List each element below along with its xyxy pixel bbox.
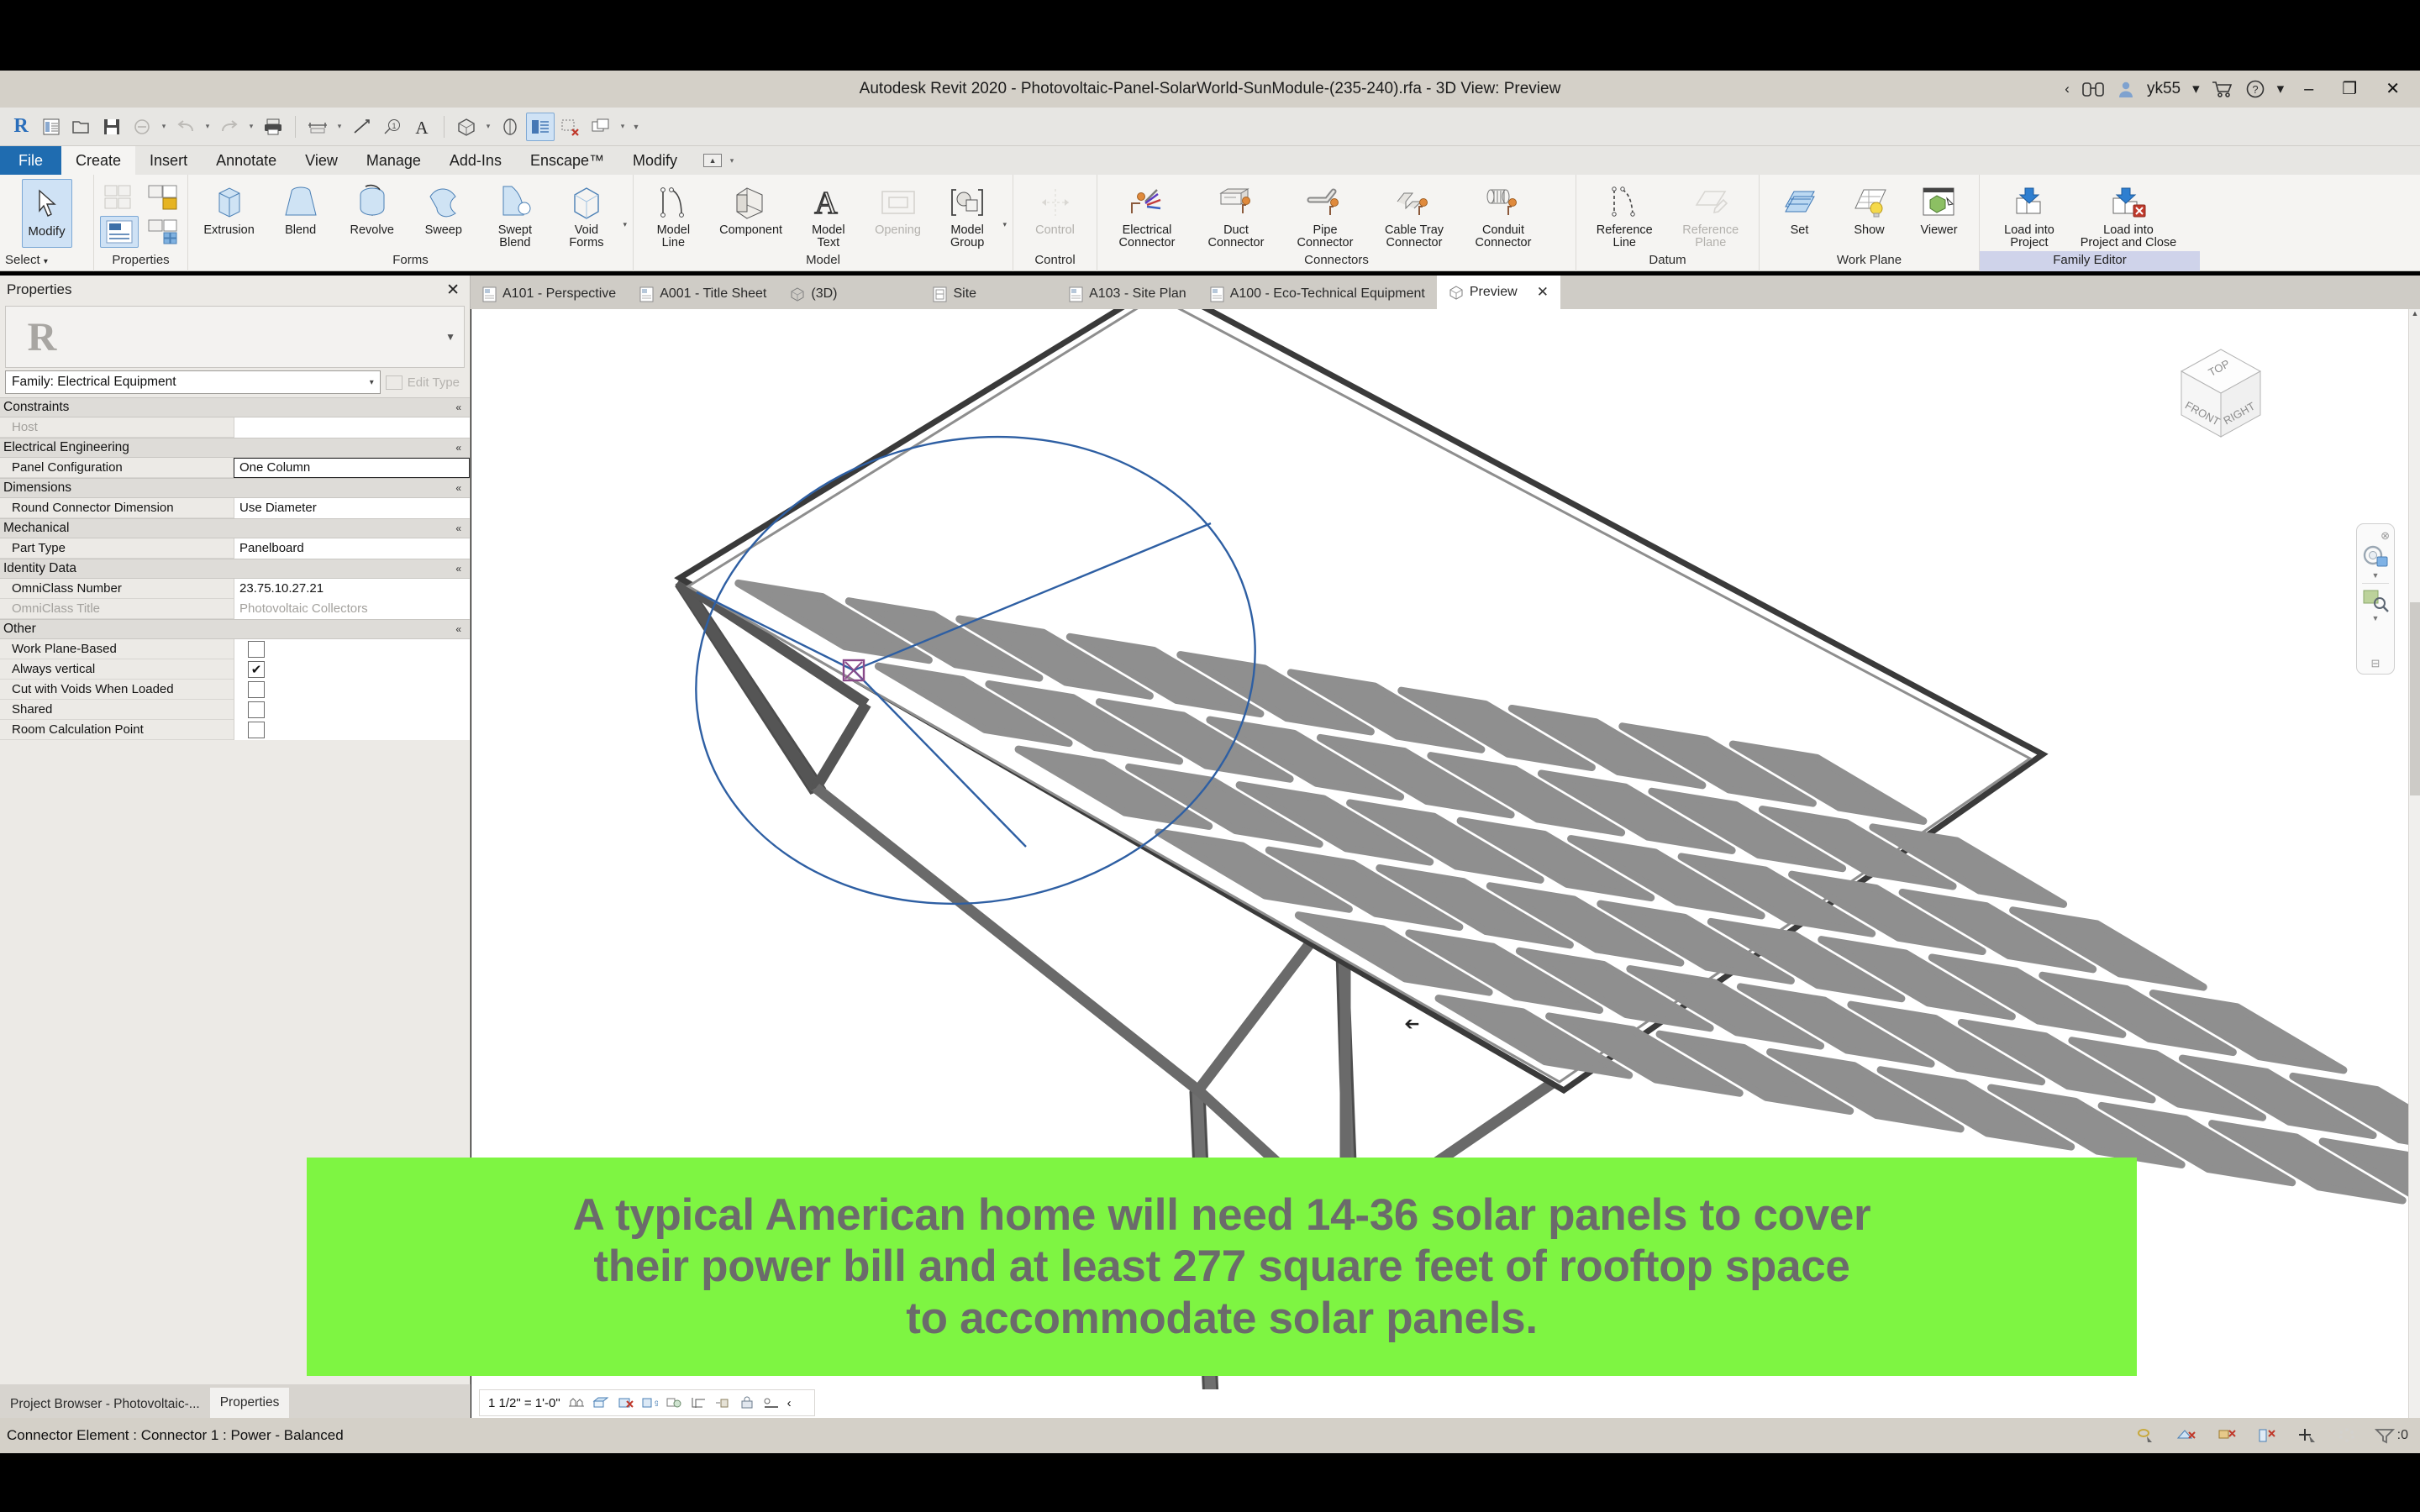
load-into-project-and-close-button[interactable]: Load into Project and Close: [2075, 179, 2182, 249]
show-work-plane-label: Show: [1854, 224, 1884, 237]
select-panel-caret-icon[interactable]: ▾: [44, 257, 48, 266]
duct-connector-button[interactable]: Duct Connector: [1192, 179, 1280, 249]
switch-windows-caret-icon[interactable]: ▾: [617, 122, 629, 131]
property-name: OmniClass Title: [0, 601, 234, 616]
close-button[interactable]: ✕: [2377, 71, 2408, 108]
sheet-icon: [1069, 286, 1083, 302]
property-row-always-vertical[interactable]: Always vertical ✔: [0, 659, 470, 680]
ribbon-minimize-icon[interactable]: ▲: [703, 154, 722, 167]
view-tab-label: A101 - Perspective: [502, 286, 616, 302]
properties-col-1: [100, 179, 139, 248]
view-tab-a001-title-sheet[interactable]: A001 - Title Sheet: [628, 279, 778, 309]
3d-view-icon: [790, 286, 805, 302]
load-into-project-and-close-label: Load into Project and Close: [2081, 224, 2176, 249]
property-value[interactable]: 23.75.10.27.21: [234, 579, 470, 599]
work-plane-viewer-button[interactable]: Viewer: [1905, 179, 1973, 237]
reference-line-button[interactable]: Reference Line: [1582, 179, 1667, 249]
property-name: Room Calculation Point: [0, 722, 234, 737]
property-row-round-connector-dimension[interactable]: Round Connector Dimension Use Diameter: [0, 498, 470, 518]
reference-plane-button: Reference Plane: [1669, 179, 1754, 249]
qat-separator-2: [444, 116, 445, 138]
mouse-cursor-icon: ➔: [1404, 1013, 1419, 1035]
aligned-dimension-icon[interactable]: [347, 113, 376, 141]
pipe-connector-label: Pipe Connector: [1297, 224, 1354, 249]
pipe-connector-icon: [1305, 181, 1345, 224]
property-row-work-plane-based[interactable]: Work Plane-Based: [0, 639, 470, 659]
svg-text:9: 9: [655, 1399, 658, 1408]
progress-icon: [2338, 1427, 2356, 1444]
svg-text:A: A: [814, 186, 838, 221]
qat-separator-1: [295, 116, 296, 138]
duct-connector-icon: [1216, 181, 1256, 224]
always-vertical-checkbox[interactable]: ✔: [248, 661, 265, 678]
dock-tab-project-browser[interactable]: Project Browser - Photovoltaic-...: [0, 1391, 210, 1418]
ribbon-tab-insert[interactable]: Insert: [135, 146, 202, 175]
restore-button[interactable]: ❐: [2333, 71, 2365, 108]
conduit-connector-button[interactable]: Conduit Connector: [1460, 179, 1547, 249]
work-plane-viewer-label: Viewer: [1920, 224, 1957, 237]
property-row-omniclass-title: OmniClass Title Photovoltaic Collectors: [0, 599, 470, 619]
view-tab-a103-site-plan[interactable]: A103 - Site Plan: [988, 279, 1198, 309]
save-icon[interactable]: [97, 113, 126, 141]
properties-close-icon[interactable]: ✕: [446, 281, 460, 300]
blend-button[interactable]: Blend: [266, 179, 335, 237]
sun-path-icon[interactable]: [617, 1396, 634, 1410]
property-value[interactable]: [234, 417, 470, 438]
view-control-more-icon[interactable]: ‹: [787, 1396, 792, 1410]
navigation-bar-divider: [2362, 583, 2389, 584]
properties-thumbnail: R ▼: [5, 306, 465, 368]
property-row-cut-with-voids-when-loaded[interactable]: Cut with Voids When Loaded: [0, 680, 470, 700]
title-bar: Autodesk Revit 2020 - Photovoltaic-Panel…: [0, 71, 2420, 108]
ribbon-tab-manage[interactable]: Manage: [352, 146, 435, 175]
model-group-icon: [948, 181, 986, 224]
property-name: Shared: [0, 702, 234, 717]
model-line-icon: [656, 181, 690, 224]
show-work-plane-button[interactable]: Show: [1835, 179, 1903, 237]
property-group-label: Identity Data: [3, 561, 76, 576]
ribbon-tab-modify[interactable]: Modify: [618, 146, 692, 175]
swept-blend-icon: [497, 181, 534, 224]
property-group-label: Dimensions: [3, 480, 71, 496]
revit-logo-icon[interactable]: R: [7, 113, 35, 141]
user-menu-caret-icon[interactable]: ▾: [2192, 81, 2200, 97]
swept-blend-label: Swept Blend: [498, 224, 532, 249]
property-value[interactable]: Use Diameter: [234, 498, 470, 518]
property-row-omniclass-number[interactable]: OmniClass Number 23.75.10.27.21: [0, 579, 470, 599]
crop-region-icon[interactable]: [714, 1396, 731, 1410]
shared-checkbox[interactable]: [248, 701, 265, 718]
revit-family-thumbnail-icon: R: [6, 314, 78, 360]
set-work-plane-icon: [1781, 181, 1819, 224]
control-button: Control: [1020, 179, 1091, 237]
property-name: Round Connector Dimension: [0, 501, 234, 515]
property-name: Host: [0, 420, 234, 434]
crop-view-icon[interactable]: [690, 1396, 707, 1410]
edit-type-button: Edit Type: [386, 375, 465, 390]
view-3d-caret-icon[interactable]: ▾: [482, 122, 494, 131]
view-tab-bar: A101 - Perspective A001 - Title Sheet (3…: [471, 276, 2420, 309]
switch-windows-icon[interactable]: [587, 113, 615, 141]
view-tab-label: A103 - Site Plan: [1089, 286, 1186, 302]
extrusion-button[interactable]: Extrusion: [194, 179, 264, 237]
load-into-project-button[interactable]: Load into Project: [1986, 179, 2073, 249]
pipe-connector-button[interactable]: Pipe Connector: [1281, 179, 1369, 249]
load-into-project-and-close-icon: [2108, 181, 2149, 224]
sheet-icon: [639, 286, 654, 302]
measure-caret-icon[interactable]: ▾: [334, 122, 345, 131]
ribbon-tab-add-ins[interactable]: Add-Ins: [435, 146, 516, 175]
model-group-label: Model Group: [950, 224, 984, 249]
property-row-part-type[interactable]: Part Type Panelboard: [0, 538, 470, 559]
property-value[interactable]: One Column: [234, 458, 470, 478]
panel-title-forms: Forms: [188, 251, 633, 271]
room-calculation-point-checkbox[interactable]: [248, 722, 265, 738]
save-as-icon[interactable]: [128, 113, 156, 141]
scrollbar-thumb[interactable]: [2410, 602, 2420, 795]
sweep-label: Sweep: [425, 224, 462, 237]
blend-label: Blend: [285, 224, 316, 237]
component-label: Component: [719, 224, 782, 237]
ribbon-tab-view[interactable]: View: [291, 146, 352, 175]
ribbon-panel-datum: Reference Line Reference Plane Datum: [1576, 175, 1760, 271]
property-name: Cut with Voids When Loaded: [0, 682, 234, 696]
blend-icon: [282, 181, 319, 224]
reference-plane-label: Reference Plane: [1682, 224, 1739, 249]
redo-caret-icon[interactable]: ▾: [245, 122, 257, 131]
work-plane-viewer-icon: [1920, 181, 1959, 224]
control-label: Control: [1035, 224, 1075, 237]
lock-3d-view-icon[interactable]: [739, 1396, 755, 1410]
panel-title-datum: Datum: [1576, 251, 1759, 271]
chevron-up-icon[interactable]: «: [455, 623, 461, 635]
load-into-project-icon: [2010, 181, 2049, 224]
view-tab-label: Site: [953, 286, 976, 302]
property-value-cell: ✔: [234, 659, 470, 680]
property-value-cell: [234, 680, 470, 700]
steering-wheels-caret-icon[interactable]: ▼: [2372, 571, 2380, 580]
opening-icon: [879, 181, 918, 224]
property-group-identity-data[interactable]: Identity Data «: [0, 559, 470, 579]
shopping-cart-icon[interactable]: [2212, 80, 2233, 98]
reference-plane-icon: [1691, 181, 1730, 224]
top-black-letterbox: [0, 0, 2420, 71]
view-tab-label: (3D): [811, 286, 837, 302]
property-name: OmniClass Number: [0, 581, 234, 596]
cut-with-voids-checkbox[interactable]: [248, 681, 265, 698]
property-group-label: Constraints: [3, 400, 69, 415]
property-name: Work Plane-Based: [0, 642, 234, 656]
show-work-plane-icon: [1850, 181, 1889, 224]
properties-table: Constraints « Host Electrical Engineerin…: [0, 397, 470, 740]
model-text-label: Model Text: [812, 224, 845, 249]
sheet-icon: [1210, 286, 1224, 302]
void-forms-label: Void Forms: [569, 224, 603, 249]
arrow-cursor-icon: [34, 181, 60, 225]
select-links-icon[interactable]: [2136, 1427, 2158, 1444]
title-bar-right-group: ‹ yk55 ▾ ? ▾ – ❐ ✕: [2065, 71, 2413, 108]
modify-label: Modify: [28, 225, 65, 238]
property-row-panel-configuration[interactable]: Panel Configuration One Column: [0, 458, 470, 478]
family-type-selector[interactable]: Family: Electrical Equipment ▾: [5, 370, 381, 394]
text-icon[interactable]: A: [408, 113, 436, 141]
panel-title-connectors: Connectors: [1097, 251, 1576, 271]
open-icon[interactable]: [67, 113, 96, 141]
sheet-icon: [482, 286, 497, 302]
reference-line-label: Reference Line: [1597, 224, 1653, 249]
properties-col-2: [144, 179, 182, 248]
detail-level-icon[interactable]: [568, 1396, 585, 1410]
ribbon-panel-model: Model Line Component A Model Text: [634, 175, 1013, 271]
property-row-host[interactable]: Host: [0, 417, 470, 438]
modify-button[interactable]: Modify: [22, 179, 72, 248]
user-account-icon[interactable]: [2117, 80, 2135, 98]
property-group-constraints[interactable]: Constraints «: [0, 397, 470, 417]
conduit-connector-label: Conduit Connector: [1476, 224, 1532, 249]
ribbon-panel-control: Control Control: [1013, 175, 1097, 271]
ribbon-panel-select: Modify Select ▾: [0, 175, 94, 271]
property-value-cell: [234, 639, 470, 659]
close-hidden-windows-icon[interactable]: [556, 113, 585, 141]
bottom-black-letterbox: [0, 1453, 2420, 1512]
component-button[interactable]: Component: [709, 179, 793, 237]
component-icon: [732, 181, 771, 224]
thin-lines-icon[interactable]: [526, 113, 555, 141]
dock-tab-properties[interactable]: Properties: [210, 1388, 290, 1418]
undo-caret-icon[interactable]: ▾: [202, 122, 213, 131]
help-caret-icon[interactable]: ▾: [2277, 81, 2285, 97]
zoom-region-icon[interactable]: [2361, 587, 2390, 612]
panel-title-properties: Properties: [94, 251, 187, 271]
select-by-face-icon[interactable]: [2257, 1427, 2279, 1444]
view-tab-close-icon[interactable]: ✕: [1537, 284, 1549, 301]
shadows-icon[interactable]: 9: [641, 1396, 658, 1410]
view-tab-preview[interactable]: Preview ✕: [1437, 276, 1560, 309]
search-binoculars-icon[interactable]: [2081, 80, 2105, 98]
work-plane-based-checkbox[interactable]: [248, 641, 265, 658]
model-text-icon: A: [811, 181, 846, 224]
swept-blend-button[interactable]: Swept Blend: [480, 179, 550, 249]
set-work-plane-label: Set: [1791, 224, 1809, 237]
view-scale-label[interactable]: 1 1/2" = 1'-0": [488, 1396, 560, 1410]
model-group-button[interactable]: Model Group: [934, 179, 1002, 249]
property-name: Always vertical: [0, 662, 234, 676]
model-line-button[interactable]: Model Line: [639, 179, 708, 249]
chevron-up-icon[interactable]: «: [455, 442, 461, 454]
property-name: Part Type: [0, 541, 234, 555]
revolve-icon: [354, 181, 391, 224]
3d-view-icon: [1449, 285, 1464, 301]
new-icon[interactable]: [37, 113, 66, 141]
collapse-left-icon[interactable]: ‹: [2065, 81, 2070, 97]
edit-type-label: Edit Type: [408, 375, 460, 390]
property-value: Photovoltaic Collectors: [234, 599, 470, 619]
svg-text:A: A: [415, 118, 429, 136]
property-row-shared[interactable]: Shared: [0, 700, 470, 720]
panel-title-control: Control: [1013, 251, 1097, 271]
tag-icon[interactable]: 1: [377, 113, 406, 141]
view-control-bar: 1 1/2" = 1'-0" 9 ‹: [479, 1389, 815, 1416]
select-underlay-icon[interactable]: [2176, 1427, 2198, 1444]
view-tab-label: Preview: [1470, 285, 1518, 300]
status-message: Connector Element : Connector 1 : Power …: [0, 1427, 344, 1444]
properties-icon[interactable]: [100, 216, 139, 248]
family-category-icon[interactable]: [144, 181, 182, 213]
view-tab-a100-eco-technical-equipment[interactable]: A100 - Eco-Technical Equipment: [1198, 279, 1437, 309]
sweep-button[interactable]: Sweep: [408, 179, 478, 237]
property-group-label: Mechanical: [3, 521, 69, 536]
visual-style-icon[interactable]: [592, 1396, 609, 1410]
default-3d-view-icon[interactable]: [452, 113, 481, 141]
caption-line-3: to accommodate solar panels.: [906, 1293, 1538, 1344]
view-tab-a101-perspective[interactable]: A101 - Perspective: [471, 279, 628, 309]
family-parameters-icon[interactable]: [144, 216, 182, 248]
qat-overflow-icon[interactable]: ▼: [630, 123, 642, 131]
sweep-icon: [425, 181, 462, 224]
ribbon-options-caret-icon[interactable]: ▾: [726, 156, 738, 165]
property-group-label: Electrical Engineering: [3, 440, 129, 455]
model-text-button[interactable]: A Model Text: [795, 179, 863, 249]
chevron-up-icon[interactable]: «: [455, 402, 461, 413]
ribbon-tab-strip: File Create Insert Annotate View Manage …: [0, 146, 2420, 175]
navigation-bar-options-icon[interactable]: ⊟: [2371, 657, 2381, 670]
redo-icon[interactable]: [215, 113, 244, 141]
ribbon-panel-container: Modify Select ▾: [0, 175, 2420, 271]
property-group-dimensions[interactable]: Dimensions «: [0, 478, 470, 498]
measure-icon[interactable]: [303, 113, 332, 141]
save-as-caret-icon[interactable]: ▾: [158, 122, 170, 131]
panel-title-family-editor: Family Editor: [1980, 251, 2200, 271]
ribbon-tab-enscape[interactable]: Enscape™: [516, 146, 618, 175]
property-value-cell: [234, 720, 470, 740]
ribbon-panel-family-editor: Load into Project Load into Project and …: [1980, 175, 2200, 271]
void-forms-button[interactable]: Void Forms: [551, 179, 621, 249]
load-into-project-label: Load into Project: [2004, 224, 2054, 249]
revit-application-window: Autodesk Revit 2020 - Photovoltaic-Panel…: [0, 0, 2420, 1512]
caption-line-1: A typical American home will need 14-36 …: [573, 1189, 1871, 1241]
chevron-up-icon[interactable]: «: [455, 522, 461, 534]
minimize-button[interactable]: –: [2296, 71, 2322, 108]
extrusion-label: Extrusion: [203, 224, 254, 237]
window-title: Autodesk Revit 2020 - Photovoltaic-Panel…: [0, 80, 2420, 98]
edit-type-icon: [386, 375, 402, 390]
help-icon[interactable]: ?: [2245, 79, 2265, 99]
section-icon[interactable]: [496, 113, 524, 141]
control-icon: [1037, 181, 1074, 224]
zoom-caret-icon[interactable]: ▼: [2372, 614, 2380, 622]
panel-title-select[interactable]: Select ▾: [0, 251, 93, 271]
plan-view-icon: [933, 286, 947, 302]
filter-icon[interactable]: :0: [2375, 1427, 2408, 1444]
print-icon[interactable]: [259, 113, 287, 141]
caption-overlay: A typical American home will need 14-36 …: [307, 1158, 2137, 1376]
family-selector-row: Family: Electrical Equipment ▾ Edit Type: [5, 370, 465, 394]
property-group-label: Other: [3, 622, 36, 637]
panel-title-select-text: Select: [5, 253, 40, 267]
properties-palette-title: Properties: [7, 281, 71, 298]
electrical-connector-button[interactable]: Electrical Connector: [1103, 179, 1191, 249]
property-group-mechanical[interactable]: Mechanical «: [0, 518, 470, 538]
canvas-vertical-scrollbar[interactable]: ▲ ▼: [2408, 309, 2420, 1438]
extrusion-icon: [213, 181, 246, 224]
property-row-room-calculation-point[interactable]: Room Calculation Point: [0, 720, 470, 740]
property-group-electrical-engineering[interactable]: Electrical Engineering «: [0, 438, 470, 458]
property-name: Panel Configuration: [0, 460, 234, 475]
conduit-connector-icon: [1483, 181, 1523, 224]
chevron-up-icon[interactable]: «: [455, 563, 461, 575]
ribbon-panel-connectors: Electrical Connector Duct Connector Pipe…: [1097, 175, 1576, 271]
cable-tray-connector-button[interactable]: Cable Tray Connector: [1370, 179, 1458, 249]
set-work-plane-button[interactable]: Set: [1765, 179, 1833, 237]
property-value[interactable]: Panelboard: [234, 538, 470, 559]
drag-element-icon[interactable]: [2297, 1427, 2319, 1444]
analytical-model-icon[interactable]: [763, 1396, 780, 1410]
scroll-up-icon[interactable]: ▲: [2409, 309, 2420, 322]
electrical-connector-icon: [1127, 181, 1167, 224]
caption-line-2: their power bill and at least 277 square…: [593, 1241, 1849, 1292]
ribbon-display-options[interactable]: ▲ ▾: [692, 146, 750, 175]
ribbon-tab-file[interactable]: File: [0, 146, 61, 175]
ribbon-panel-work-plane: Set Show Viewer Work Plane: [1760, 175, 1980, 271]
cable-tray-connector-label: Cable Tray Connector: [1385, 224, 1444, 249]
model-line-label: Model Line: [657, 224, 691, 249]
chevron-up-icon[interactable]: «: [455, 482, 461, 494]
opening-button: Opening: [864, 179, 932, 237]
svg-text:1: 1: [392, 122, 396, 130]
family-types-icon[interactable]: [100, 181, 139, 213]
family-selector-caret-icon[interactable]: ▾: [370, 378, 374, 387]
ribbon-tab-create[interactable]: Create: [61, 146, 135, 175]
properties-palette-header: Properties ✕: [0, 276, 470, 304]
view-tab-label: A100 - Eco-Technical Equipment: [1230, 286, 1425, 302]
dock-tab-bar: Project Browser - Photovoltaic-... Prope…: [0, 1384, 471, 1418]
model-group-caret-icon[interactable]: ▾: [1002, 220, 1007, 229]
family-type-value: Family: Electrical Equipment: [12, 375, 176, 390]
ribbon-panel-forms: Extrusion Blend Revolve: [188, 175, 634, 271]
electrical-connector-label: Electrical Connector: [1119, 224, 1176, 249]
view-tab-3d[interactable]: (3D): [778, 279, 849, 309]
panel-title-work-plane: Work Plane: [1760, 251, 1979, 271]
ribbon-tab-annotate[interactable]: Annotate: [202, 146, 291, 175]
select-pinned-icon[interactable]: [2217, 1427, 2238, 1444]
void-forms-caret-icon[interactable]: ▾: [623, 220, 627, 229]
navigation-bar[interactable]: ⊗ ▼ ▼ ⊟: [2356, 523, 2395, 675]
render-icon[interactable]: [665, 1396, 682, 1410]
duct-connector-label: Duct Connector: [1208, 224, 1265, 249]
void-forms-icon: [568, 181, 605, 224]
view-tab-label: A001 - Title Sheet: [660, 286, 766, 302]
reference-line-icon: [1607, 181, 1642, 224]
opening-label: Opening: [875, 224, 921, 237]
panel-title-model: Model: [634, 251, 1013, 271]
revolve-label: Revolve: [350, 224, 394, 237]
steering-wheels-icon[interactable]: [2361, 544, 2390, 570]
status-bar-right-group: :0: [2136, 1427, 2408, 1444]
svg-text:?: ?: [2252, 83, 2258, 96]
revolve-button[interactable]: Revolve: [337, 179, 407, 237]
view-cube[interactable]: TOP FRONT RIGHT: [2158, 334, 2284, 452]
filter-count-label: :0: [2397, 1428, 2408, 1443]
ribbon-panel-properties: Properties: [94, 175, 188, 271]
navigation-bar-close-icon[interactable]: ⊗: [2381, 529, 2390, 543]
property-group-other[interactable]: Other «: [0, 619, 470, 639]
quick-access-toolbar: R ▾ ▾ ▾ ▾ 1: [0, 108, 2420, 146]
type-selector-caret-icon[interactable]: ▼: [445, 331, 464, 343]
user-name-label[interactable]: yk55: [2147, 80, 2181, 98]
status-bar: Connector Element : Connector 1 : Power …: [0, 1418, 2420, 1453]
undo-icon[interactable]: [171, 113, 200, 141]
view-tab-site[interactable]: Site: [849, 279, 988, 309]
